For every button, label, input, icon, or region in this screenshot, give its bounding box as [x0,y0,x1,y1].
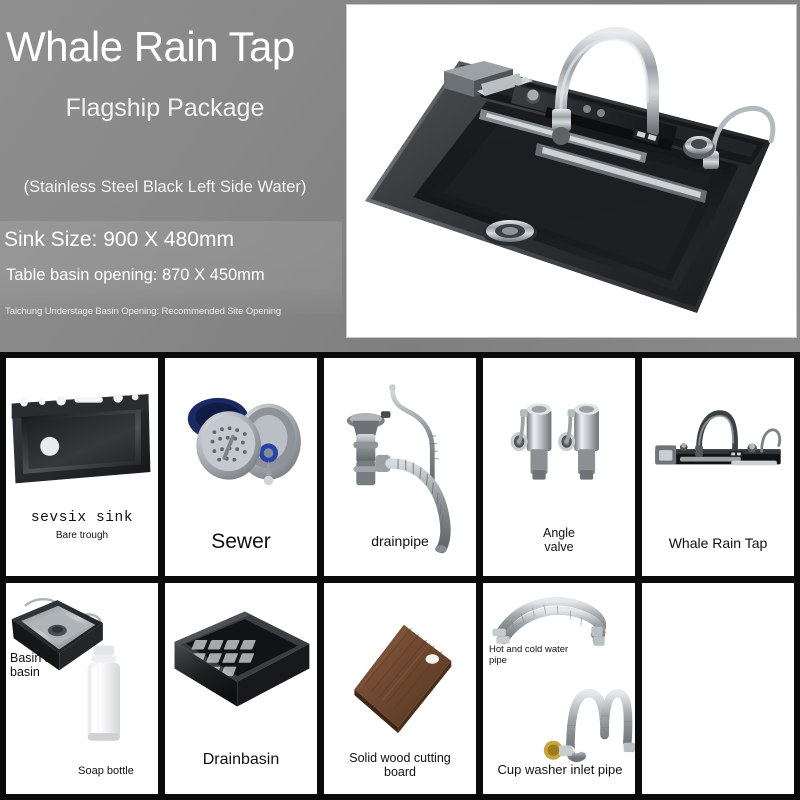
part-label-whale-rain-tap: Whale Rain Tap [646,536,790,552]
part-cell-cutting-board[interactable]: Solid wood cutting board [324,583,476,794]
angle-valve-label-line2: valve [544,540,573,554]
hero-product-panel [347,5,796,337]
part-cell-whale-rain-tap[interactable]: Whale Rain Tap [642,358,794,576]
variant-label: (Stainless Steel Black Left Side Water) [0,178,330,197]
part-cell-empty [642,583,794,794]
spec-note: Taichung Understage Basin Opening: Recom… [5,306,281,317]
part-label-soap-bottle: Soap bottle [58,765,154,777]
hot-cold-label-line2: pipe [489,655,507,666]
cutting-board-label-line2: board [384,765,416,779]
page-title: Whale Rain Tap [6,26,342,68]
part-cell-drainbasin[interactable]: Drainbasin [165,583,317,794]
spec-sink-size: Sink Size: 900 X 480mm [4,228,234,252]
part-label-cutting-board: Solid wood cutting board [332,751,468,779]
part-cell-drainpipe[interactable]: drainpipe [324,358,476,576]
part-cell-sevsix-sink[interactable]: sevsix sink Bare trough [6,358,158,576]
cutting-board-label-line1: Solid wood cutting [349,751,450,765]
hot-cold-label-line1: Hot and cold water [489,644,568,655]
part-label-basin-in-basin: Basin in basin [10,651,96,679]
basin-in-basin-image [6,583,158,794]
spec-table-opening: Table basin opening: 870 X 450mm [6,266,265,285]
part-label-hot-cold-water-pipe: Hot and cold water pipe [489,645,593,666]
part-label-sevsix-sink: sevsix sink [10,510,154,526]
part-label-drainpipe: drainpipe [328,534,472,550]
part-cell-basin-in-basin[interactable]: Basin in basin Soap bottle [6,583,158,794]
part-label-sewer: Sewer [169,530,313,554]
part-cell-cup-washer-inlet-pipe[interactable]: Hot and cold water pipe Cup washer inlet… [483,583,635,794]
basin-label-line1: Basin in [10,651,54,665]
part-label-cup-washer-inlet-pipe: Cup washer inlet pipe [485,763,635,778]
header-banner: Whale Rain Tap Flagship Package (Stainle… [0,0,800,352]
angle-valve-label-line1: Angle [543,526,575,540]
product-infographic: Whale Rain Tap Flagship Package (Stainle… [0,0,800,800]
part-label-drainbasin: Drainbasin [169,751,313,769]
part-cell-sewer[interactable]: Sewer [165,358,317,576]
part-label-angle-valve: Angle valve [487,526,631,554]
basin-label-line2: basin [10,665,40,679]
header-text-block: Whale Rain Tap Flagship Package (Stainle… [0,0,345,352]
hero-sink-image [347,5,796,337]
parts-grid: sevsix sink Bare trough [0,352,800,800]
package-subtitle: Flagship Package [0,96,330,121]
part-sublabel-bare-trough: Bare trough [10,530,154,541]
part-cell-angle-valve[interactable]: Angle valve [483,358,635,576]
